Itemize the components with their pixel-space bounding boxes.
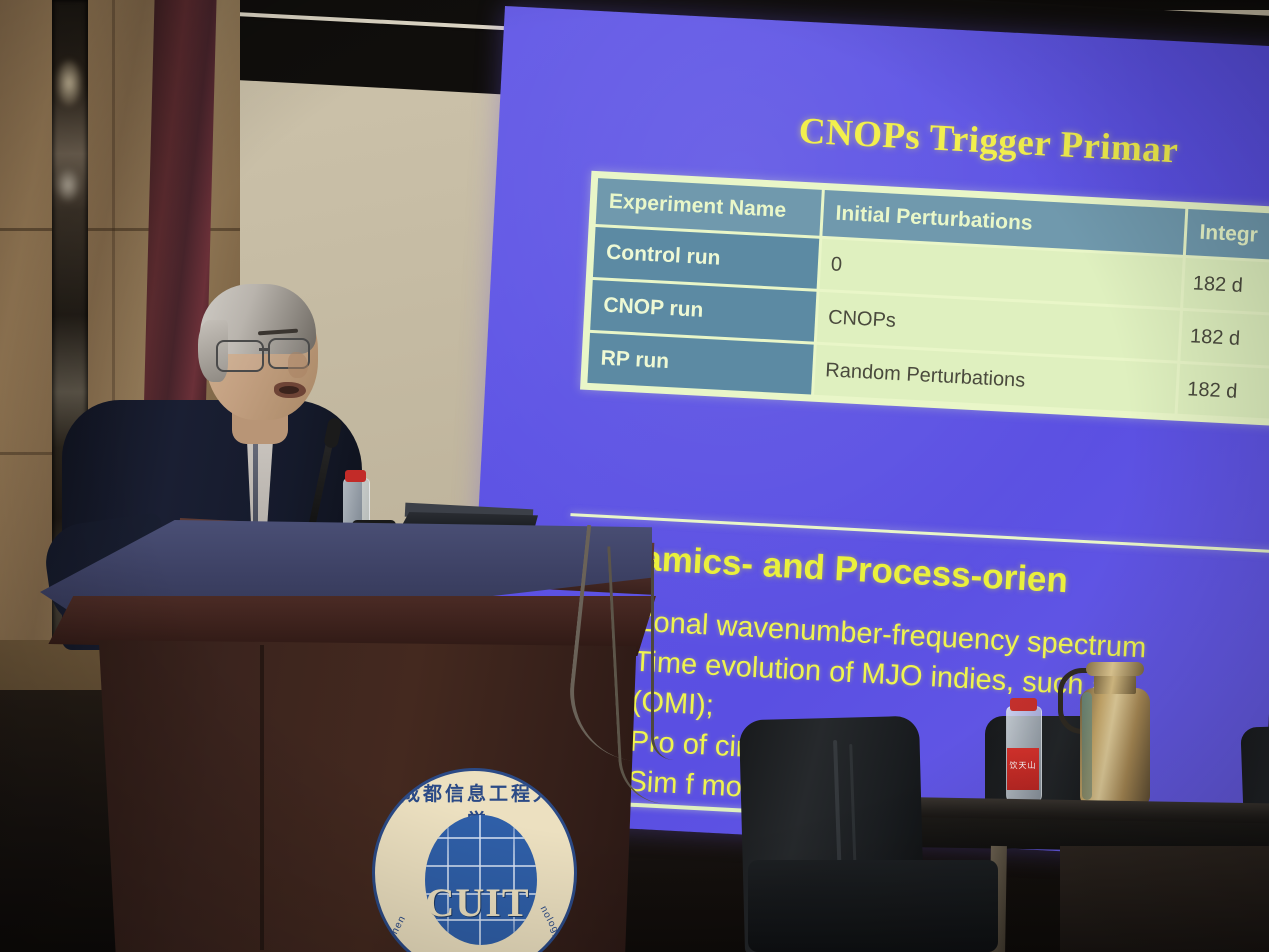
bottle-label-text: 饮天山 xyxy=(1009,760,1037,771)
column-header-integration: Integr xyxy=(1186,209,1269,262)
cell-experiment-name: RP run xyxy=(587,333,813,395)
mirror-reflection xyxy=(56,60,82,106)
eyeglasses-bridge xyxy=(259,348,270,351)
bottle-cap xyxy=(1010,698,1037,711)
bottle-cap xyxy=(345,470,366,482)
thermos-highlight xyxy=(1082,692,1092,800)
lecture-hall-photo: CNOPs Trigger Primar Experiment Name Ini… xyxy=(0,0,1269,952)
logo-oval-plate: 成都信息工程大学 CUIT Chen nology xyxy=(372,768,577,952)
eyeglasses-left-lens-icon xyxy=(216,340,264,372)
table-front-panel xyxy=(1060,846,1269,952)
column-header-experiment-name: Experiment Name xyxy=(596,178,822,236)
speaker-mouth-inner xyxy=(279,386,299,394)
cuit-logo: 成都信息工程大学 CUIT Chen nology xyxy=(372,768,577,952)
cell-experiment-name: Control run xyxy=(593,227,819,289)
cell-integration: 182 d xyxy=(1184,258,1269,315)
mirror-reflection xyxy=(56,168,80,202)
chair-seat xyxy=(748,860,998,952)
cell-experiment-name: CNOP run xyxy=(590,280,816,342)
cell-integration: 182 d xyxy=(1178,364,1269,421)
speaker-nose xyxy=(288,352,308,378)
cable xyxy=(651,560,674,760)
thermos-cap xyxy=(1086,662,1144,676)
podium-edge xyxy=(260,645,264,950)
experiment-table: Experiment Name Initial Perturbations In… xyxy=(580,171,1269,428)
cell-integration: 182 d xyxy=(1181,311,1269,368)
